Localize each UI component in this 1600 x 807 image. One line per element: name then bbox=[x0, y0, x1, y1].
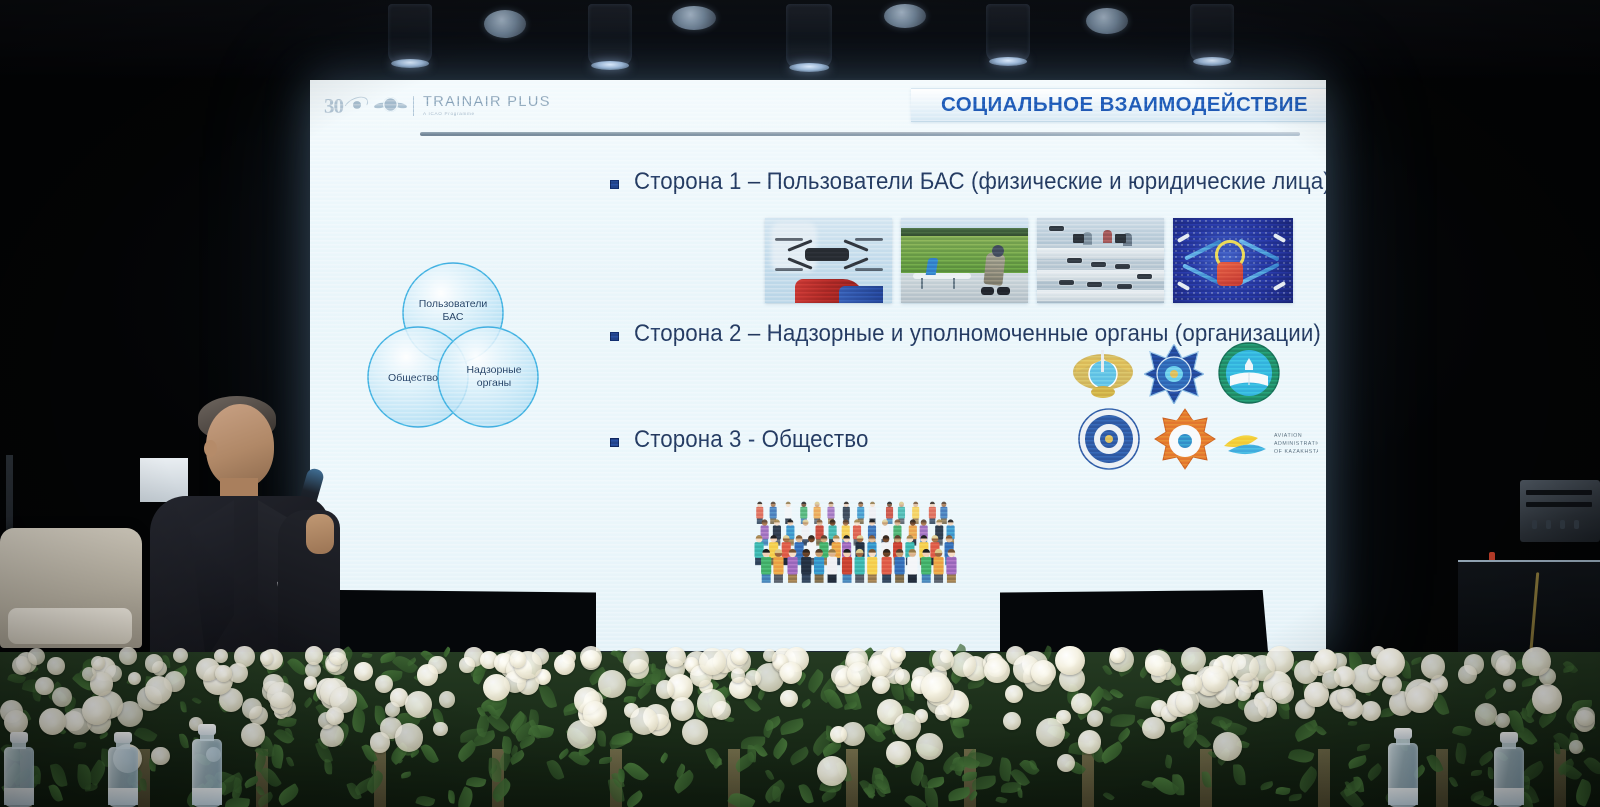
svg-text:Общество: Общество bbox=[388, 372, 438, 384]
garland-rose bbox=[145, 654, 163, 672]
garland-rose bbox=[1458, 665, 1477, 684]
garland-rose bbox=[1036, 718, 1065, 747]
garland-rose bbox=[891, 647, 906, 662]
garland-rose bbox=[145, 676, 173, 704]
garland-rose bbox=[326, 707, 344, 725]
bullet-marker-icon bbox=[610, 438, 619, 447]
garland-rose bbox=[656, 680, 675, 699]
bullet-text: Сторона 1 – Пользователи БАС (физические… bbox=[634, 168, 1326, 196]
garland-rose bbox=[1421, 654, 1445, 678]
svg-text:БАС: БАС bbox=[442, 311, 463, 323]
ministry-of-internal-affairs-emblem bbox=[1144, 344, 1204, 404]
garland-rose bbox=[1145, 650, 1170, 675]
stage-light bbox=[1086, 8, 1128, 34]
garland-rose bbox=[921, 672, 951, 702]
program-tagline: A ICAO Programme bbox=[423, 112, 551, 117]
slide-title: СОЦИАЛЬНОЕ ВЗАИМОДЕЙСТВИЕ bbox=[941, 93, 1308, 117]
slide-branding: 30 TRAINAIR PLUS A ICAO Programme bbox=[324, 91, 551, 121]
garland-rose bbox=[417, 664, 438, 685]
garland-rose bbox=[459, 657, 475, 673]
garland-rose bbox=[1003, 712, 1021, 730]
ministry-of-education-emblem bbox=[1218, 342, 1280, 404]
slide-title-plate: СОЦИАЛЬНОЕ ВЗАИМОДЕЙСТВИЕ bbox=[911, 88, 1326, 122]
garland-rose bbox=[305, 646, 324, 665]
garland-rose bbox=[1569, 740, 1583, 754]
garland-rail bbox=[1554, 749, 1566, 807]
water-bottle bbox=[1494, 733, 1524, 807]
garland-rose bbox=[82, 667, 96, 681]
garland-rose bbox=[1496, 655, 1516, 675]
garland-rose bbox=[28, 648, 45, 665]
svg-text:OF KAZAKHSTAN: OF KAZAKHSTAN bbox=[1274, 449, 1318, 455]
garland-rose bbox=[1235, 685, 1251, 701]
garland-rose bbox=[623, 648, 649, 674]
stage-light bbox=[1190, 4, 1234, 62]
stage-light bbox=[884, 4, 926, 28]
garland-rose bbox=[1337, 688, 1356, 707]
garland-rose bbox=[712, 701, 731, 720]
garland-rose bbox=[580, 646, 602, 668]
garland-rose bbox=[1232, 654, 1259, 681]
garland-rose bbox=[483, 674, 510, 701]
garland-rose bbox=[567, 720, 596, 749]
garland-rose bbox=[872, 676, 890, 694]
garland-rose bbox=[354, 662, 373, 681]
aviation-administration-logo: AVIATION ADMINISTRATION OF KAZAKHSTAN bbox=[1222, 424, 1318, 458]
garland-rose bbox=[510, 651, 527, 668]
svg-text:Пользователи: Пользователи bbox=[419, 298, 488, 310]
stage-light bbox=[588, 4, 632, 66]
stage-light bbox=[786, 4, 832, 68]
garland-rose bbox=[630, 707, 658, 735]
garland-rose bbox=[39, 708, 66, 735]
garland-rose bbox=[385, 702, 400, 717]
garland-rose bbox=[1244, 699, 1267, 722]
svg-text:органы: органы bbox=[477, 377, 511, 389]
ceiling-lighting-truss bbox=[0, 0, 1600, 78]
garland-rose bbox=[1475, 703, 1498, 726]
garland-rose bbox=[260, 651, 274, 665]
trainair-plus-wordmark: TRAINAIR PLUS A ICAO Programme bbox=[423, 95, 551, 117]
national-security-committee-emblem bbox=[1078, 408, 1140, 470]
garland-leaf bbox=[597, 730, 606, 746]
audio-mixer bbox=[1520, 480, 1600, 542]
conference-stage-scene: 30 TRAINAIR PLUS A ICAO Programme СОЦИАЛ… bbox=[0, 0, 1600, 807]
presenter-hand-holding-mic bbox=[306, 514, 334, 554]
garland-rose bbox=[731, 668, 745, 682]
garland-rail bbox=[1318, 749, 1330, 807]
presentation-slide: 30 TRAINAIR PLUS A ICAO Programme СОЦИАЛ… bbox=[310, 80, 1326, 651]
garland-rose bbox=[405, 691, 432, 718]
garland-rose bbox=[1142, 717, 1165, 740]
garland-rose bbox=[119, 647, 136, 664]
logo-divider bbox=[413, 96, 414, 116]
garland-rose bbox=[395, 723, 423, 751]
garland-rose bbox=[1406, 686, 1434, 714]
drone-photo-strip bbox=[765, 218, 1293, 303]
garland-rose bbox=[375, 675, 393, 693]
garland-rose bbox=[1213, 732, 1242, 761]
venn-diagram: Пользователи БАС Общество Надзорные орга… bbox=[358, 255, 548, 435]
photo-quadcopter-drone bbox=[765, 218, 892, 303]
bullet-item-3: Сторона 3 - Общество bbox=[610, 426, 886, 454]
bullet-item-1: Сторона 1 – Пользователи БАС (физические… bbox=[610, 168, 1326, 196]
garland-rose bbox=[699, 648, 726, 675]
garland-rose bbox=[1382, 675, 1402, 695]
garland-rose bbox=[745, 670, 761, 686]
garland-rose bbox=[1110, 648, 1124, 662]
garland-rose bbox=[951, 652, 976, 677]
government-emblems-group: AVIATION ADMINISTRATION OF KAZAKHSTAN bbox=[1070, 342, 1320, 470]
garland-rose bbox=[35, 677, 53, 695]
header-divider-rule bbox=[420, 132, 1300, 136]
garland-rose bbox=[886, 741, 911, 766]
garland-rose bbox=[598, 670, 626, 698]
led-presentation-screen: 30 TRAINAIR PLUS A ICAO Programme СОЦИАЛ… bbox=[310, 80, 1326, 651]
water-bottle bbox=[1388, 727, 1418, 807]
garland-rose bbox=[932, 649, 954, 671]
svg-text:AVIATION: AVIATION bbox=[1274, 433, 1302, 439]
garland-rose bbox=[329, 648, 346, 665]
water-bottle bbox=[4, 733, 34, 807]
garland-rose bbox=[4, 710, 28, 734]
garland-rose bbox=[666, 647, 686, 667]
garland-rose bbox=[671, 697, 695, 721]
garland-rose bbox=[1576, 707, 1594, 725]
society-crowd-illustration bbox=[740, 475, 970, 595]
ministry-of-transport-emblem bbox=[1070, 342, 1136, 404]
garland-rose bbox=[847, 662, 871, 686]
garland-rose bbox=[984, 658, 1009, 683]
garland-rose bbox=[1503, 679, 1516, 692]
photo-drone-laboratory bbox=[1037, 218, 1164, 303]
svg-text:Надзорные: Надзорные bbox=[466, 364, 521, 376]
svg-text:ADMINISTRATION: ADMINISTRATION bbox=[1274, 441, 1318, 447]
stage-light bbox=[672, 6, 716, 30]
garland-rose bbox=[1361, 701, 1381, 721]
white-rose-garland bbox=[0, 630, 1600, 807]
garland-rose bbox=[242, 698, 262, 718]
program-name: TRAINAIR PLUS bbox=[423, 95, 551, 110]
photo-drone-tech-graphic bbox=[1173, 218, 1293, 303]
garland-rose bbox=[1294, 660, 1318, 684]
garland-rose bbox=[1522, 647, 1551, 676]
garland-rose bbox=[47, 657, 64, 674]
presenter-ear bbox=[204, 440, 217, 457]
garland-rose bbox=[1055, 646, 1084, 675]
garland-rose bbox=[780, 662, 802, 684]
garland-leaf bbox=[180, 701, 187, 712]
bullet-text: Сторона 3 - Общество bbox=[634, 426, 868, 454]
emergency-situations-emblem bbox=[1154, 408, 1216, 470]
garland-rose bbox=[52, 687, 72, 707]
water-bottle bbox=[108, 733, 138, 807]
stage-light bbox=[388, 4, 432, 64]
garland-rose bbox=[682, 719, 708, 745]
bullet-marker-icon bbox=[610, 332, 619, 341]
garland-rose bbox=[151, 747, 170, 766]
garland-rose bbox=[894, 713, 920, 739]
garland-rose bbox=[370, 732, 391, 753]
anniversary-30-icon: 30 bbox=[324, 93, 368, 119]
garland-leaf bbox=[623, 695, 636, 703]
garland-rose bbox=[82, 696, 111, 725]
water-bottle bbox=[192, 723, 222, 807]
garland-rose bbox=[895, 669, 910, 684]
garland-rose bbox=[267, 682, 294, 709]
garland-rose bbox=[1181, 647, 1206, 672]
garland-rose bbox=[1071, 693, 1092, 714]
garland-rose bbox=[1078, 730, 1102, 754]
garland-rose bbox=[1176, 690, 1200, 714]
photo-uav-field-technician bbox=[901, 218, 1028, 303]
icao-logo-icon bbox=[377, 94, 404, 119]
garland-rose bbox=[935, 704, 952, 721]
garland-rose bbox=[304, 676, 318, 690]
stage-light bbox=[484, 10, 526, 38]
garland-rose bbox=[241, 723, 265, 747]
garland-rose bbox=[1087, 710, 1104, 727]
stage-light bbox=[986, 4, 1030, 62]
bullet-marker-icon bbox=[610, 180, 619, 189]
garland-rose bbox=[1532, 684, 1562, 714]
garland-rose bbox=[173, 648, 188, 663]
